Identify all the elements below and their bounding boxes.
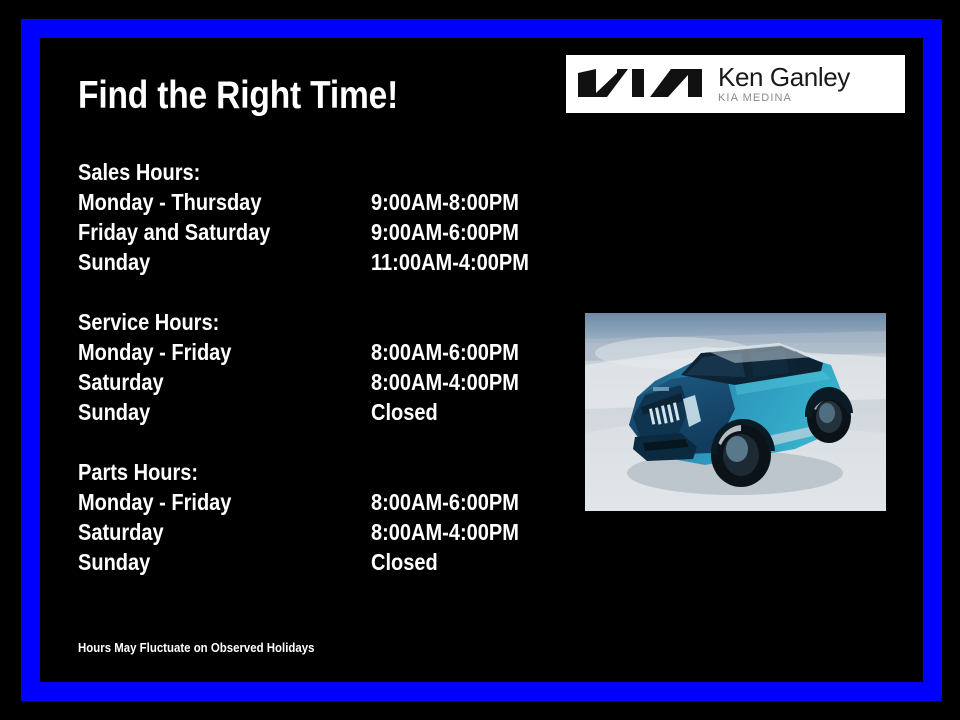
hours-row: Monday - Thursday9:00AM-8:00PM (78, 187, 548, 217)
holiday-disclaimer: Hours May Fluctuate on Observed Holidays (78, 640, 314, 655)
hours-row-days: Sunday (78, 247, 333, 277)
hours-row: Sunday11:00AM-4:00PM (78, 247, 548, 277)
hours-section: Service Hours:Monday - Friday8:00AM-6:00… (78, 307, 548, 427)
hours-row: Monday - Friday8:00AM-6:00PM (78, 487, 548, 517)
kia-logo-icon (576, 67, 704, 101)
hours-row-days: Saturday (78, 367, 333, 397)
hours-row-time: 8:00AM-6:00PM (371, 487, 519, 517)
hours-row-time: Closed (371, 547, 438, 577)
suv-illustration (585, 313, 886, 511)
dealership-hours-slide: Find the Right Time! Sales Hours:Monday … (0, 0, 960, 720)
hours-row-time: 9:00AM-8:00PM (371, 187, 519, 217)
page-title: Find the Right Time! (78, 76, 398, 117)
hours-section-heading: Sales Hours: (78, 157, 487, 187)
dealer-name: Ken Ganley (718, 64, 850, 91)
hours-row-days: Monday - Friday (78, 487, 333, 517)
hours-row: Saturday8:00AM-4:00PM (78, 367, 548, 397)
hours-section: Parts Hours:Monday - Friday8:00AM-6:00PM… (78, 457, 548, 577)
hours-row-days: Friday and Saturday (78, 217, 333, 247)
hours-row-days: Sunday (78, 397, 333, 427)
hours-section: Sales Hours:Monday - Thursday9:00AM-8:00… (78, 157, 548, 277)
hours-row-time: 8:00AM-4:00PM (371, 367, 519, 397)
dealer-subtitle: KIA MEDINA (718, 91, 850, 105)
hours-row: Monday - Friday8:00AM-6:00PM (78, 337, 548, 367)
hours-row-time: 8:00AM-6:00PM (371, 337, 519, 367)
hours-row-days: Monday - Thursday (78, 187, 333, 217)
hours-row-days: Monday - Friday (78, 337, 333, 367)
dealer-logo-card: Ken Ganley KIA MEDINA (566, 55, 905, 113)
kia-ev9-suv-photo (585, 313, 886, 511)
hours-row: Saturday8:00AM-4:00PM (78, 517, 548, 547)
hours-row: SundayClosed (78, 397, 548, 427)
hours-row-time: Closed (371, 397, 438, 427)
hours-row-time: 8:00AM-4:00PM (371, 517, 519, 547)
hours-row-time: 11:00AM-4:00PM (371, 247, 529, 277)
dealer-logo-text: Ken Ganley KIA MEDINA (718, 64, 850, 105)
hours-row-time: 9:00AM-6:00PM (371, 217, 519, 247)
hours-list: Sales Hours:Monday - Thursday9:00AM-8:00… (78, 157, 548, 577)
hours-section-heading: Service Hours: (78, 307, 487, 337)
hours-row: SundayClosed (78, 547, 548, 577)
hours-row-days: Sunday (78, 547, 333, 577)
hours-row: Friday and Saturday9:00AM-6:00PM (78, 217, 548, 247)
hours-row-days: Saturday (78, 517, 333, 547)
hours-section-heading: Parts Hours: (78, 457, 487, 487)
